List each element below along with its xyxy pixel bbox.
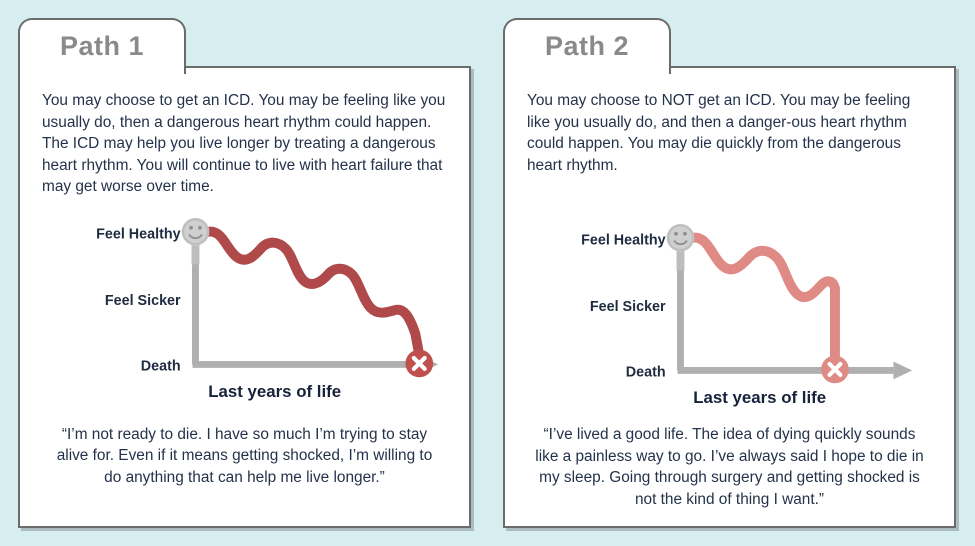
path-1-tab-label: Path 1 — [60, 33, 144, 62]
path-2-body-text: You may choose to NOT get an ICD. You ma… — [527, 90, 932, 176]
path-2-chart: Feel Healthy Feel Sicker Death — [527, 218, 932, 408]
comparison-diagram: Path 1 You may choose to get an ICD. You… — [0, 0, 975, 546]
path-2-health-line — [693, 238, 835, 359]
path-1-chart-svg: Feel Healthy Feel Sicker Death — [42, 212, 447, 402]
path-1-content-layer: You may choose to get an ICD. You may be… — [18, 66, 471, 528]
path-2-quote-wrap: “I’ve lived a good life. The idea of dyi… — [527, 424, 932, 510]
smiley-face-icon — [667, 224, 695, 271]
path-2-x-axis-title: Last years of life — [693, 388, 826, 407]
path-1-quote-wrap: “I’m not ready to die. I have so much I’… — [42, 424, 447, 489]
path-1-y-label-feel-healthy: Feel Healthy — [96, 226, 181, 242]
path-2-y-label-death: Death — [626, 365, 666, 381]
path-2-y-label-feel-healthy: Feel Healthy — [581, 233, 666, 249]
path-1-y-label-death: Death — [141, 358, 181, 374]
path-1-y-label-feel-sicker: Feel Sicker — [105, 293, 181, 309]
death-x-icon — [405, 349, 433, 377]
path-2-content-layer: You may choose to NOT get an ICD. You ma… — [503, 66, 956, 528]
path-1-panel: Path 1 You may choose to get an ICD. You… — [18, 18, 471, 528]
path-1-body-text: You may choose to get an ICD. You may be… — [42, 90, 447, 198]
path-2-x-axis-arrow — [893, 362, 912, 380]
smiley-face-icon — [182, 218, 210, 265]
path-2-chart-svg: Feel Healthy Feel Sicker Death — [527, 218, 932, 408]
death-x-icon — [821, 356, 849, 384]
path-1-quote: “I’m not ready to die. I have so much I’… — [42, 424, 447, 489]
path-2-y-label-feel-sicker: Feel Sicker — [590, 299, 666, 315]
path-1-x-axis-title: Last years of life — [208, 382, 341, 401]
path-1-health-line — [208, 231, 418, 349]
path-2-tab-label: Path 2 — [545, 33, 629, 62]
path-2-panel: Path 2 You may choose to NOT get an ICD.… — [503, 18, 956, 528]
path-2-quote: “I’ve lived a good life. The idea of dyi… — [527, 424, 932, 510]
path-1-chart: Feel Healthy Feel Sicker Death — [42, 212, 447, 402]
